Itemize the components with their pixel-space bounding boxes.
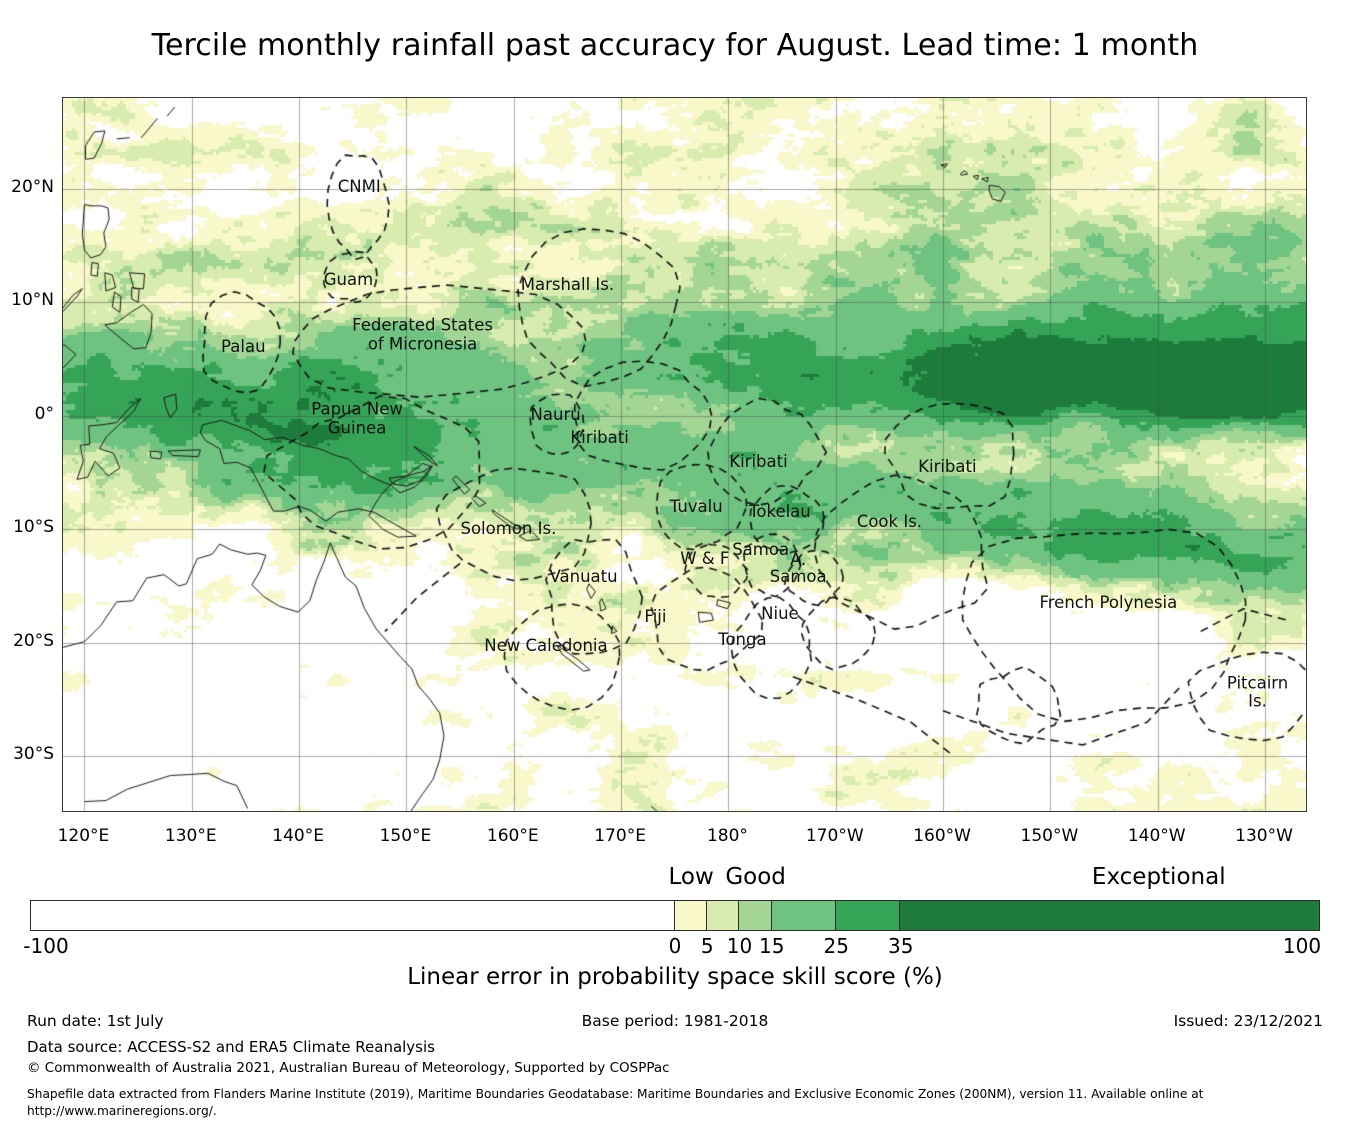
colorbar-tick-1: 0 [669, 934, 682, 958]
y-tick-0: 20°N [11, 177, 54, 197]
x-tick-1: 130°E [165, 826, 217, 846]
shapefile-line-2: http://www.marineregions.org/. [27, 1103, 1203, 1120]
x-tick-0: 120°E [58, 826, 110, 846]
colorbar-category-low: Low [668, 864, 713, 890]
colorbar-category-labels: LowGoodExceptional [0, 864, 1350, 896]
colorbar-segment-1 [675, 901, 707, 930]
y-tick-5: 30°S [13, 744, 54, 764]
x-tick-9: 150°W [1021, 826, 1079, 846]
y-tick-2: 0° [35, 404, 54, 424]
x-tick-3: 150°E [380, 826, 432, 846]
x-tick-6: 180° [707, 826, 748, 846]
x-tick-8: 160°W [913, 826, 971, 846]
data-source: Data source: ACCESS-S2 and ERA5 Climate … [27, 1038, 435, 1056]
colorbar-tick-5: 25 [824, 934, 849, 958]
x-tick-5: 170°E [594, 826, 646, 846]
y-tick-3: 10°S [13, 517, 54, 537]
x-tick-10: 140°W [1128, 826, 1186, 846]
issued-date: Issued: 23/12/2021 [1174, 1012, 1323, 1030]
x-tick-11: 130°W [1235, 826, 1293, 846]
skill-score-heatmap [63, 98, 1306, 811]
colorbar-tick-6: 35 [888, 934, 913, 958]
x-tick-4: 160°E [487, 826, 539, 846]
colorbar [30, 900, 1320, 931]
colorbar-axis-label: Linear error in probability space skill … [0, 964, 1350, 990]
colorbar-tick-2: 5 [701, 934, 714, 958]
colorbar-segment-5 [836, 901, 900, 930]
colorbar-segment-6 [900, 901, 1319, 930]
x-tick-7: 170°W [806, 826, 864, 846]
map-plot-area: CNMIGuamPalauFederated States of Microne… [62, 97, 1307, 812]
copyright-notice: © Commonwealth of Australia 2021, Austra… [27, 1060, 670, 1076]
y-tick-4: 20°S [13, 631, 54, 651]
x-tick-2: 140°E [272, 826, 324, 846]
colorbar-tick-3: 10 [727, 934, 752, 958]
shapefile-attribution: Shapefile data extracted from Flanders M… [27, 1086, 1203, 1121]
colorbar-category-exceptional: Exceptional [1092, 864, 1226, 890]
colorbar-tick-0: -100 [23, 934, 68, 958]
y-tick-1: 10°N [11, 290, 54, 310]
colorbar-segment-2 [707, 901, 739, 930]
page-title: Tercile monthly rainfall past accuracy f… [0, 28, 1350, 63]
colorbar-category-good: Good [725, 864, 786, 890]
colorbar-tick-4: 15 [759, 934, 784, 958]
colorbar-segment-0 [31, 901, 675, 930]
footer: Run date: 1st July Base period: 1981-201… [0, 1012, 1350, 1036]
colorbar-tick-7: 100 [1283, 934, 1321, 958]
shapefile-line-1: Shapefile data extracted from Flanders M… [27, 1086, 1203, 1103]
colorbar-segment-3 [739, 901, 771, 930]
colorbar-segment-4 [772, 901, 836, 930]
base-period: Base period: 1981-2018 [0, 1012, 1350, 1030]
